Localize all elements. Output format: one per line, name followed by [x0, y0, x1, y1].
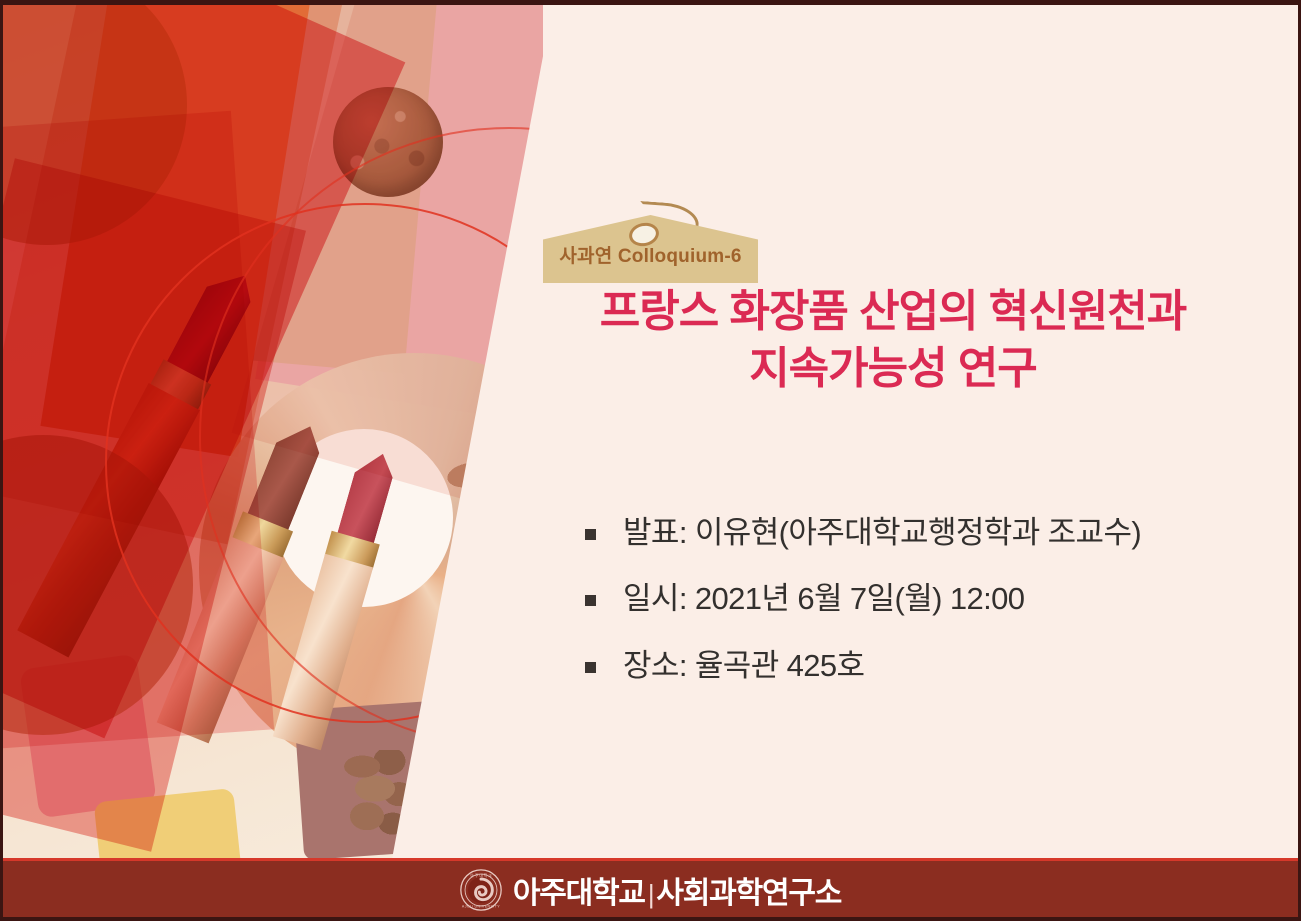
footer-bar: 아 주 대 학 교 AJOU UNIVERSITY 아주대학교 | 사회과학연구…	[3, 861, 1298, 919]
square-bullet-icon	[585, 595, 596, 606]
square-bullet-icon	[585, 529, 596, 540]
colloquium-badge: 사과연 Colloquium-6	[543, 201, 773, 283]
footer-institute-name: 사회과학연구소	[656, 868, 841, 912]
title-line-2: 지속가능성 연구	[523, 340, 1263, 397]
detail-presenter: 발표: 이유현(아주대학교행정학과 조교수)	[623, 513, 1141, 553]
list-item: 장소: 율곡관 425호	[585, 646, 1265, 686]
artwork-crushed-powder-a	[343, 750, 423, 842]
detail-location: 장소: 율곡관 425호	[623, 646, 864, 686]
svg-text:AJOU UNIVERSITY: AJOU UNIVERSITY	[462, 905, 500, 909]
svg-text:아 주 대 학 교: 아 주 대 학 교	[470, 873, 492, 878]
list-item: 발표: 이유현(아주대학교행정학과 조교수)	[585, 513, 1265, 553]
page-title: 프랑스 화장품 산업의 혁신원천과 지속가능성 연구	[523, 283, 1263, 397]
list-item: 일시: 2021년 6월 7일(월) 12:00	[585, 579, 1265, 619]
footer-separator: |	[645, 879, 657, 910]
footer-university-name: 아주대학교	[513, 868, 645, 912]
square-bullet-icon	[585, 662, 596, 673]
title-line-1: 프랑스 화장품 산업의 혁신원천과	[523, 283, 1263, 340]
event-details-list: 발표: 이유현(아주대학교행정학과 조교수) 일시: 2021년 6월 7일(월…	[585, 513, 1265, 712]
cosmetics-artwork-image	[3, 5, 543, 860]
badge-label: 사과연 Colloquium-6	[543, 241, 758, 268]
ajou-university-seal-icon: 아 주 대 학 교 AJOU UNIVERSITY	[460, 869, 502, 911]
poster-slide: 사과연 Colloquium-6 프랑스 화장품 산업의 혁신원천과 지속가능성…	[0, 0, 1301, 921]
artwork-pale-compact	[455, 795, 543, 860]
detail-datetime: 일시: 2021년 6월 7일(월) 12:00	[623, 579, 1024, 619]
footer-brand: 아주대학교 | 사회과학연구소	[513, 868, 841, 912]
